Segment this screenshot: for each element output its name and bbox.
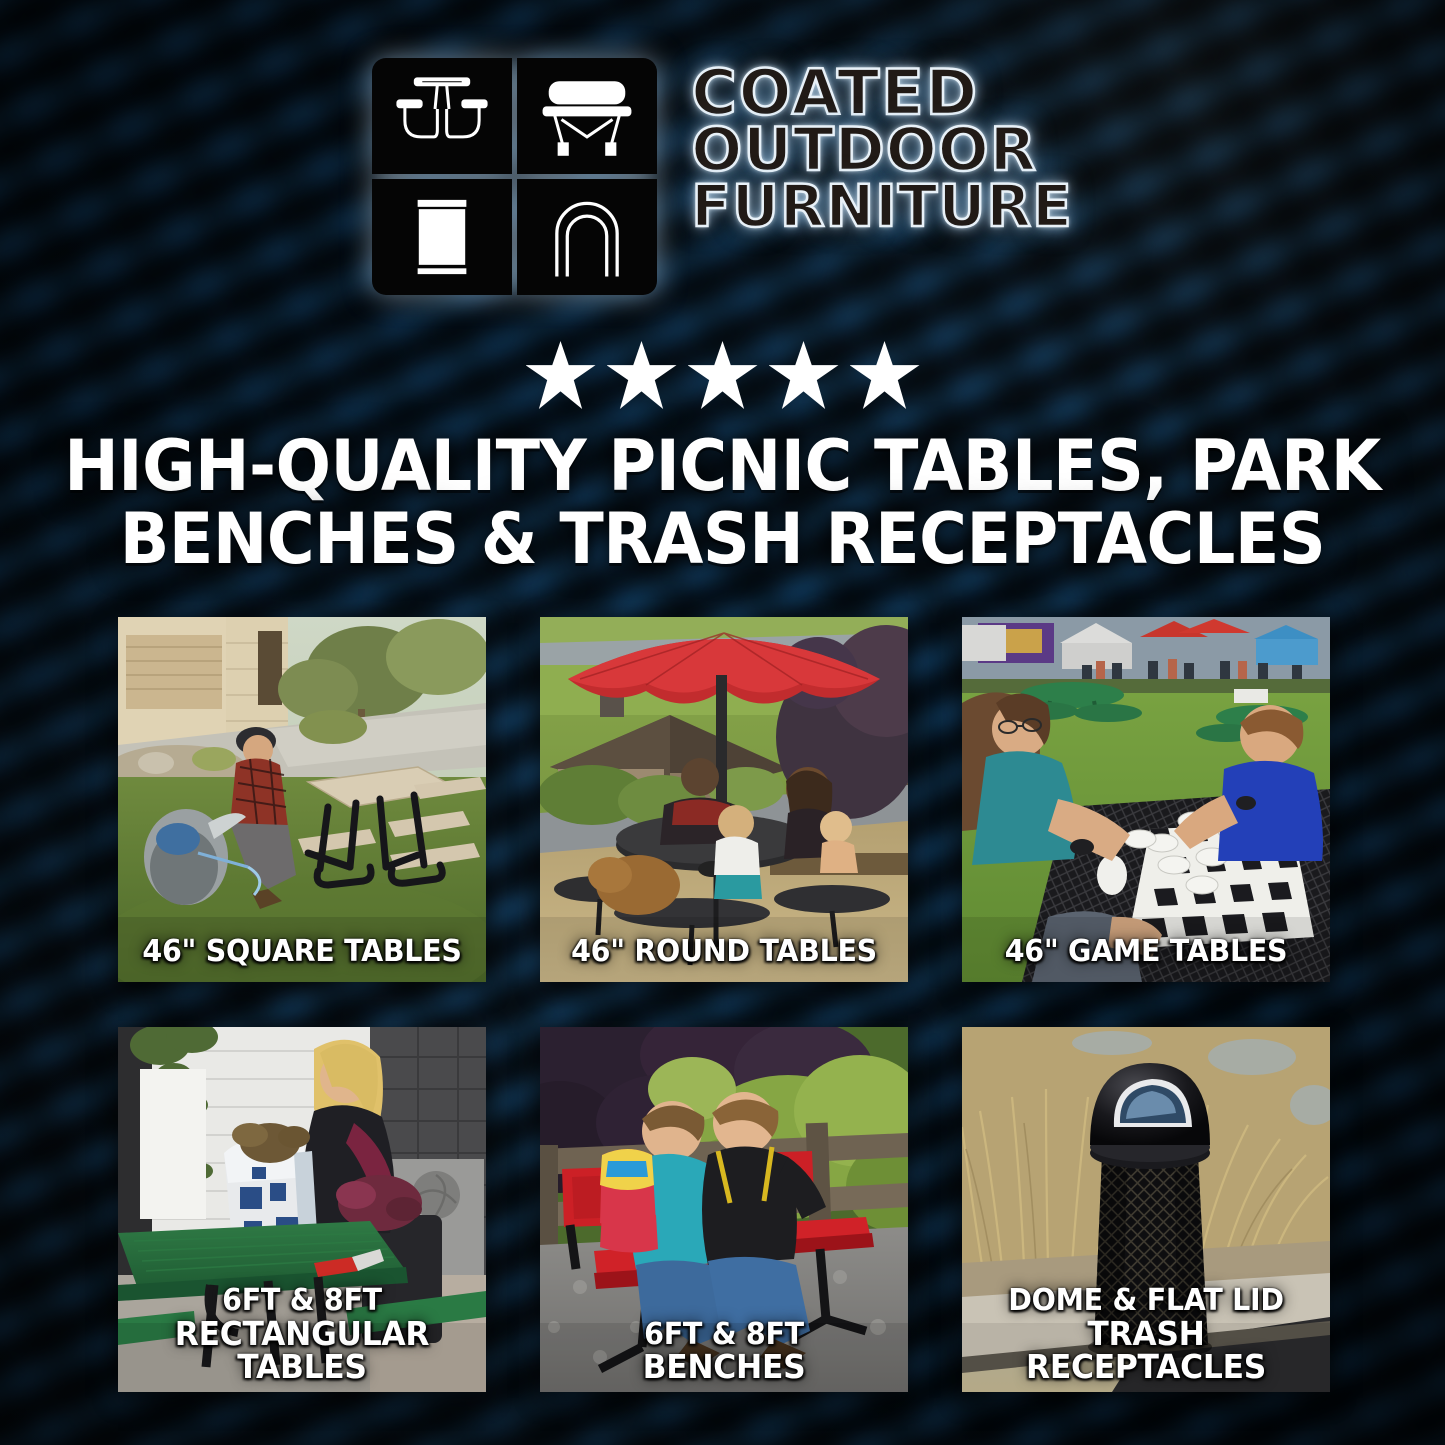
product-caption-line-1: 46" GAME TABLES bbox=[1005, 934, 1288, 969]
product-caption-line-1: 6FT & 8FT bbox=[644, 1317, 804, 1352]
logo-tile-trash-receptacle bbox=[372, 179, 512, 295]
brand-logo: COATED OUTDOOR FURNITURE bbox=[0, 58, 1445, 295]
brand-line-1: COATED bbox=[691, 64, 1072, 121]
poster: COATED OUTDOOR FURNITURE HIGH-QUALITY PI… bbox=[0, 0, 1445, 1445]
product-grid: 46" SQUARE TABLES bbox=[118, 617, 1330, 1392]
bike-rack-arch-icon bbox=[517, 179, 657, 295]
product-caption-line-2: RECTANGULAR TABLES bbox=[127, 1317, 477, 1384]
logo-tile-table-side bbox=[517, 58, 657, 174]
star-rating bbox=[0, 341, 1445, 409]
product-caption-line-1: 6FT & 8FT bbox=[222, 1283, 382, 1318]
product-card-game-tables[interactable]: 46" GAME TABLES bbox=[962, 617, 1330, 982]
product-card-square-tables[interactable]: 46" SQUARE TABLES bbox=[118, 617, 486, 982]
product-caption: 46" ROUND TABLES bbox=[549, 937, 899, 968]
product-card-rectangular-tables[interactable]: 6FT & 8FT RECTANGULAR TABLES bbox=[118, 1027, 486, 1392]
headline-line-1: HIGH-QUALITY PICNIC TABLES, PARK bbox=[64, 425, 1380, 507]
picnic-table-icon bbox=[372, 58, 512, 174]
star-icon bbox=[526, 341, 596, 409]
star-icon bbox=[850, 341, 920, 409]
product-caption-line-1: DOME & FLAT LID bbox=[1008, 1283, 1283, 1318]
product-caption-line-1: 46" ROUND TABLES bbox=[571, 934, 877, 969]
headline-line-2: BENCHES & TRASH RECEPTACLES bbox=[51, 503, 1395, 576]
headline: HIGH-QUALITY PICNIC TABLES, PARK BENCHES… bbox=[51, 430, 1395, 576]
product-card-benches[interactable]: 6FT & 8FT BENCHES bbox=[540, 1027, 908, 1392]
product-photo-round-tables bbox=[540, 617, 908, 982]
product-caption-line-1: 46" SQUARE TABLES bbox=[142, 934, 461, 969]
product-caption: 46" GAME TABLES bbox=[971, 937, 1321, 968]
product-caption-line-2: BENCHES bbox=[549, 1350, 899, 1384]
product-caption: DOME & FLAT LID TRASH RECEPTACLES bbox=[971, 1286, 1321, 1384]
star-icon bbox=[607, 341, 677, 409]
product-card-trash-receptacles[interactable]: DOME & FLAT LID TRASH RECEPTACLES bbox=[962, 1027, 1330, 1392]
product-photo-game-tables bbox=[962, 617, 1330, 982]
star-icon bbox=[688, 341, 758, 409]
product-caption: 6FT & 8FT BENCHES bbox=[549, 1320, 899, 1384]
star-icon bbox=[769, 341, 839, 409]
product-caption: 46" SQUARE TABLES bbox=[127, 937, 477, 968]
brand-line-3: FURNITURE bbox=[691, 180, 1072, 233]
product-caption-line-2: TRASH RECEPTACLES bbox=[971, 1317, 1321, 1384]
brand-line-2: OUTDOOR bbox=[691, 123, 1072, 178]
product-photo-square-tables bbox=[118, 617, 486, 982]
product-card-round-tables[interactable]: 46" ROUND TABLES bbox=[540, 617, 908, 982]
brand-wordmark: COATED OUTDOOR FURNITURE bbox=[691, 58, 1072, 234]
logo-tile-bike-rack bbox=[517, 179, 657, 295]
logo-icon-grid bbox=[372, 58, 657, 295]
product-caption: 6FT & 8FT RECTANGULAR TABLES bbox=[127, 1286, 477, 1384]
logo-tile-picnic-table bbox=[372, 58, 512, 174]
trash-receptacle-icon bbox=[372, 179, 512, 295]
bench-table-side-icon bbox=[517, 58, 657, 174]
